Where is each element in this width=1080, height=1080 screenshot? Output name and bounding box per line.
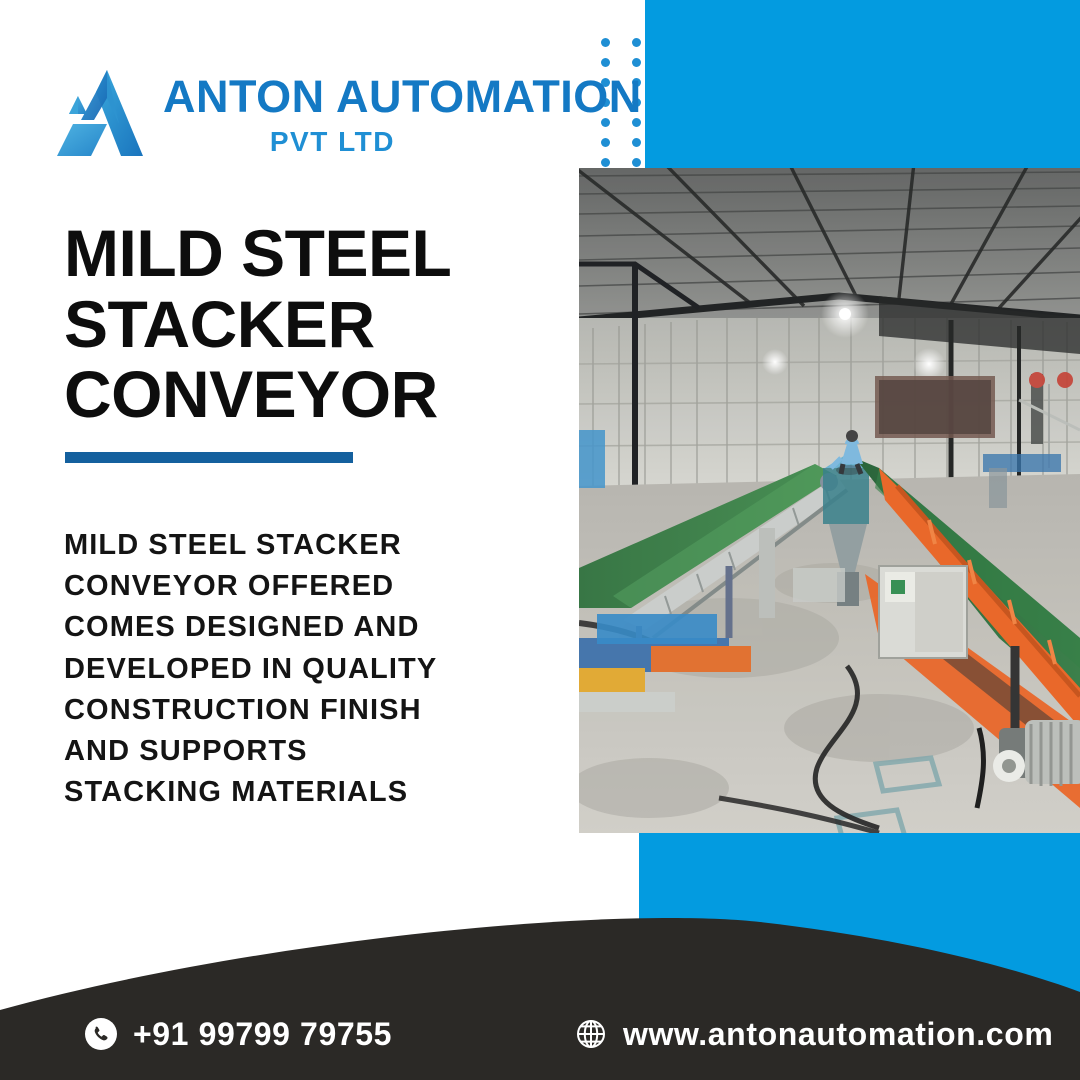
dot-icon xyxy=(601,38,610,47)
website-url: www.antonautomation.com xyxy=(623,1018,1053,1050)
dot-icon xyxy=(632,38,641,47)
headline-line-2: STACKER xyxy=(64,289,564,360)
contact-phone[interactable]: +91 99799 79755 xyxy=(84,1012,392,1056)
body-line-7: STACKING MATERIALS xyxy=(64,772,564,813)
body-line-1: MILD STEEL STACKER xyxy=(64,525,564,566)
top-accent-panel xyxy=(645,0,1080,168)
body-line-2: CONVEYOR OFFERED xyxy=(64,566,564,607)
body-line-5: CONSTRUCTION FINISH xyxy=(64,690,564,731)
body-line-3: COMES DESIGNED AND xyxy=(64,607,564,648)
brand-suffix: PVT LTD xyxy=(163,128,642,156)
headline-line-1: MILD STEEL xyxy=(64,218,564,289)
headline-line-3: CONVEYOR xyxy=(64,359,564,430)
brand-logo: ANTON AUTOMATION PVT LTD xyxy=(47,62,642,162)
contact-website[interactable]: www.antonautomation.com xyxy=(574,1012,1053,1056)
headline: MILD STEEL STACKER CONVEYOR xyxy=(64,218,564,430)
headline-underline-rule xyxy=(65,452,353,463)
body-copy: MILD STEEL STACKER CONVEYOR OFFERED COME… xyxy=(64,525,564,813)
factory-conveyor-illustration xyxy=(579,168,1080,833)
poster-canvas: ANTON AUTOMATION PVT LTD MILD STEEL STAC… xyxy=(0,0,1080,1080)
phone-icon xyxy=(84,1017,118,1051)
triangular-a-mark-icon xyxy=(47,62,151,162)
globe-icon xyxy=(574,1017,608,1051)
body-line-6: AND SUPPORTS xyxy=(64,731,564,772)
phone-number: +91 99799 79755 xyxy=(133,1018,392,1050)
product-photo xyxy=(579,168,1080,833)
brand-name: ANTON AUTOMATION xyxy=(163,74,642,119)
body-line-4: DEVELOPED IN QUALITY xyxy=(64,649,564,690)
